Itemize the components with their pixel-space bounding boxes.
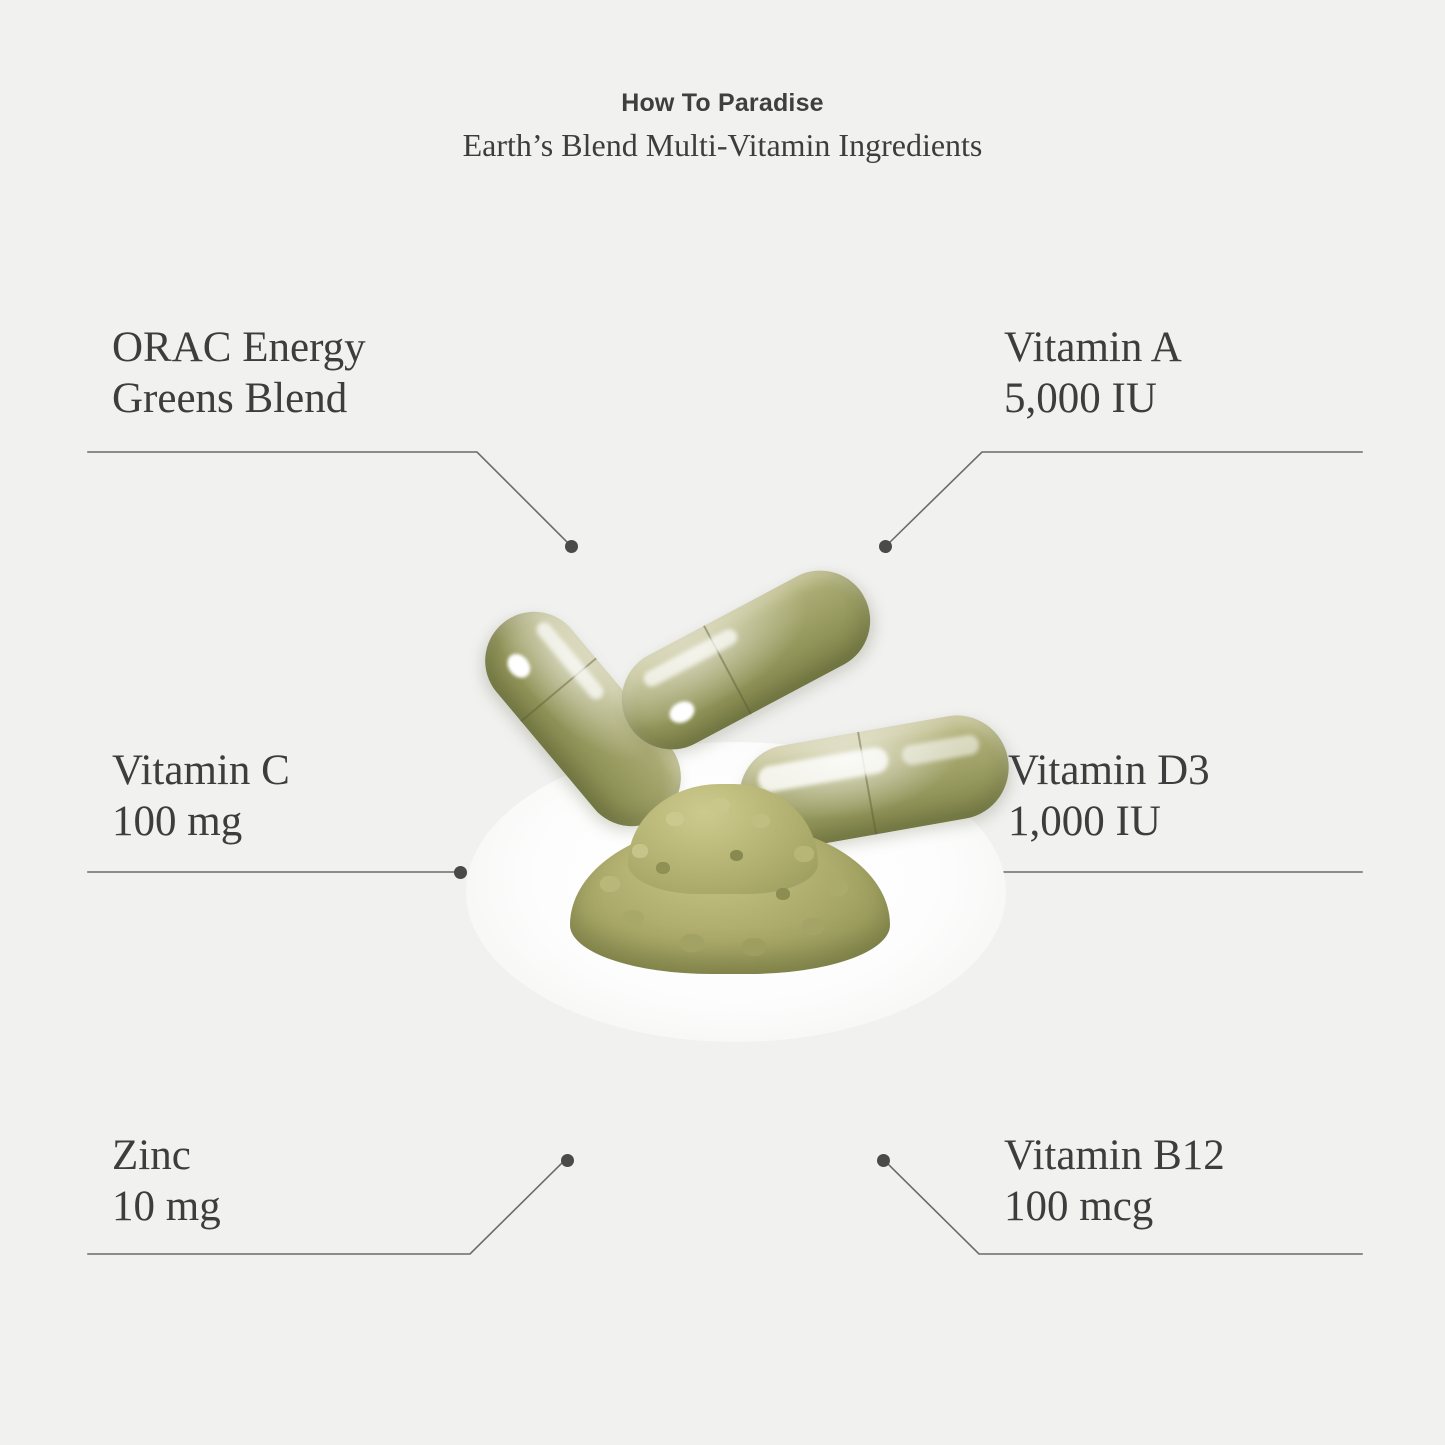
anchor-dot-orac — [565, 540, 578, 553]
powder-mound — [570, 784, 890, 974]
callout-zinc: Zinc 10 mg — [112, 1130, 221, 1232]
callout-vitamin-c-name: Vitamin C — [112, 745, 290, 796]
ingredients-infographic: How To Paradise Earth’s Blend Multi-Vita… — [0, 0, 1445, 1445]
leader-line-vitamin-a — [886, 452, 1362, 546]
callout-vitamin-a-name: Vitamin A — [1004, 322, 1182, 373]
callout-zinc-amount: 10 mg — [112, 1181, 221, 1232]
callout-vitamin-b12-amount: 100 mcg — [1004, 1181, 1225, 1232]
callout-vitamin-d3: Vitamin D3 1,000 IU — [1008, 745, 1210, 847]
header: How To Paradise Earth’s Blend Multi-Vita… — [0, 88, 1445, 167]
product-photo — [448, 592, 1024, 1044]
brand-title: How To Paradise — [0, 88, 1445, 119]
callout-orac: ORAC Energy Greens Blend — [112, 322, 366, 424]
callout-vitamin-c-amount: 100 mg — [112, 796, 290, 847]
callout-vitamin-c: Vitamin C 100 mg — [112, 745, 290, 847]
anchor-dot-vitamin-a — [879, 540, 892, 553]
callout-vitamin-a: Vitamin A 5,000 IU — [1004, 322, 1182, 424]
callout-orac-name: ORAC Energy — [112, 322, 366, 373]
callout-vitamin-d3-amount: 1,000 IU — [1008, 796, 1210, 847]
leader-line-orac — [88, 452, 571, 546]
callout-vitamin-b12: Vitamin B12 100 mcg — [1004, 1130, 1225, 1232]
callout-vitamin-d3-name: Vitamin D3 — [1008, 745, 1210, 796]
callout-vitamin-a-amount: 5,000 IU — [1004, 373, 1182, 424]
callout-vitamin-b12-name: Vitamin B12 — [1004, 1130, 1225, 1181]
callout-zinc-name: Zinc — [112, 1130, 221, 1181]
anchor-dot-zinc — [561, 1154, 574, 1167]
callout-orac-amount: Greens Blend — [112, 373, 366, 424]
anchor-dot-vitamin-b12 — [877, 1154, 890, 1167]
page-title: Earth’s Blend Multi-Vitamin Ingredients — [0, 125, 1445, 167]
